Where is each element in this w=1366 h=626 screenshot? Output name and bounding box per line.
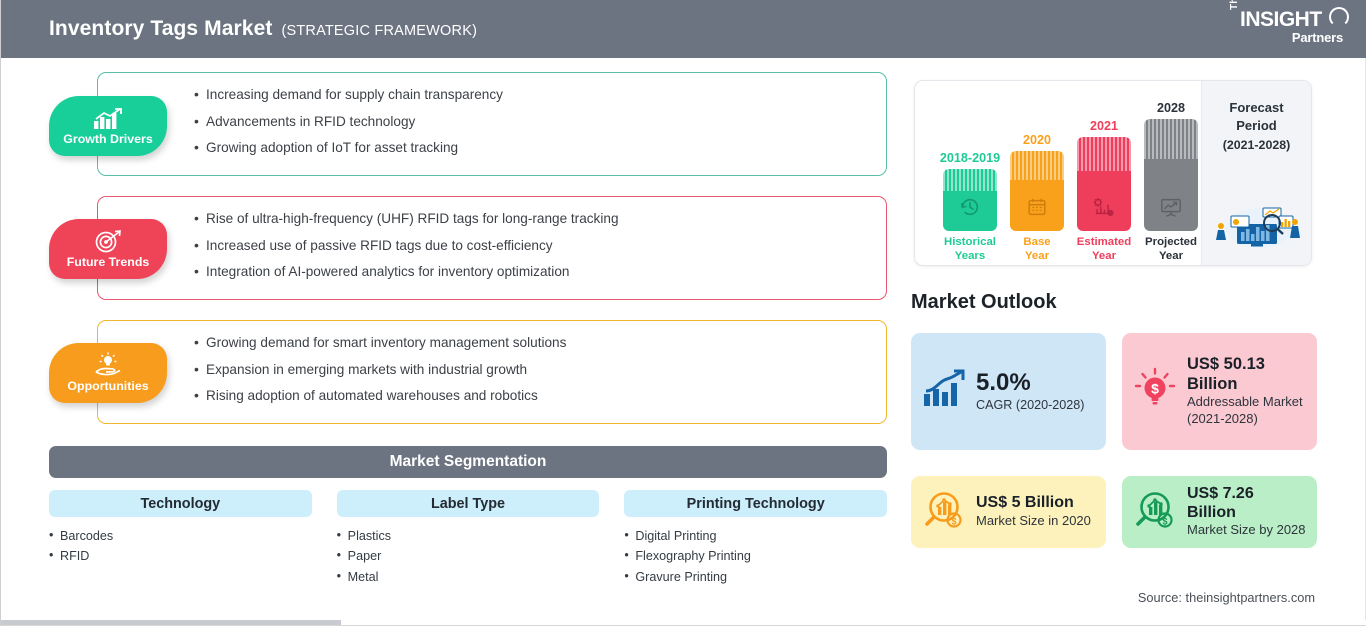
lightbulb-hand-icon — [92, 353, 124, 377]
market-outlook-title: Market Outlook — [911, 291, 1057, 314]
lightbulb-dollar-icon: $ — [1132, 366, 1178, 417]
card-market-size-2028: $ US$ 7.26 Billion Market Size by 2028 — [1122, 476, 1317, 548]
card-label: Market Size in 2020 — [976, 513, 1091, 530]
card-value: 5.0% — [976, 369, 1085, 397]
bullet-item: Increased use of passive RFID tags due t… — [194, 238, 872, 254]
list-item: Metal — [337, 567, 600, 587]
card-value: US$ 50.13 Billion — [1187, 355, 1305, 394]
magnifier-chart-dollar-icon: $ — [921, 487, 967, 538]
opportunities-badge[interactable]: Opportunities — [49, 343, 167, 403]
card-text: US$ 7.26 Billion Market Size by 2028 — [1187, 485, 1307, 540]
bar-solid — [1010, 180, 1064, 231]
card-text: 5.0% CAGR (2020-2028) — [976, 369, 1085, 414]
badge-label: Future Trends — [67, 255, 150, 269]
forecast-period-label: Forecast Period (2021-2028) — [1201, 81, 1311, 265]
bullet-item: Advancements in RFID technology — [194, 114, 872, 130]
bullet-item: Expansion in emerging markets with indus… — [194, 362, 872, 378]
data-analysis-illustration — [1207, 192, 1307, 257]
list-item: Paper — [337, 546, 600, 566]
bar-stripe-top — [1077, 137, 1131, 171]
bar-caption: ProjectedYear — [1145, 236, 1197, 263]
scrollbar-thumb[interactable] — [1, 620, 341, 625]
page-subtitle: (STRATEGIC FRAMEWORK) — [281, 23, 477, 39]
bar-body — [1077, 137, 1131, 231]
bullet-item: Increasing demand for supply chain trans… — [194, 87, 872, 103]
infographic-root: Inventory Tags Market(STRATEGIC FRAMEWOR… — [0, 0, 1366, 626]
forecast-range: (2021-2028) — [1223, 138, 1291, 152]
insight-partners-logo: The INSIGHT Partners — [1229, 6, 1349, 52]
bar-body — [1010, 151, 1064, 231]
horizontal-scrollbar[interactable] — [1, 620, 1366, 625]
opportunities-box: Growing demand for smart inventory manag… — [97, 320, 887, 424]
calendar-icon — [1026, 196, 1048, 223]
growth-bar-arrow-icon — [921, 369, 967, 414]
forecast-period-panel: 2018-2019 HistoricalYears 2020 — [914, 80, 1312, 266]
bar-stripe-top — [943, 169, 997, 191]
column-header: Label Type — [337, 490, 600, 517]
page-title: Inventory Tags Market(STRATEGIC FRAMEWOR… — [49, 17, 477, 41]
source-text: Source: theinsightpartners.com — [1138, 590, 1315, 605]
list-item: RFID — [49, 546, 312, 566]
future-trends-badge[interactable]: Future Trends — [49, 219, 167, 279]
market-segmentation-columns: Technology Barcodes RFID Label Type Plas… — [49, 490, 887, 590]
opportunities-bullets: Growing demand for smart inventory manag… — [194, 335, 872, 404]
svg-text:$: $ — [951, 516, 956, 526]
card-market-size-2020: $ US$ 5 Billion Market Size in 2020 — [911, 476, 1106, 548]
future-trends-box: Rise of ultra-high-frequency (UHF) RFID … — [97, 196, 887, 300]
svg-text:$: $ — [1162, 516, 1167, 526]
growth-drivers-bullets: Increasing demand for supply chain trans… — [194, 87, 872, 156]
forecast-line1: Forecast — [1229, 100, 1283, 115]
growth-drivers-badge[interactable]: Growth Drivers — [49, 96, 167, 156]
list-item: Digital Printing — [624, 526, 887, 546]
bar-body — [1144, 119, 1198, 231]
bar-caption: HistoricalYears — [944, 236, 996, 263]
segmentation-column-technology: Technology Barcodes RFID — [49, 490, 312, 590]
card-value: US$ 7.26 Billion — [1187, 485, 1307, 523]
segmentation-column-printing-technology: Printing Technology Digital Printing Fle… — [624, 490, 887, 590]
bar-year-label: 2028 — [1157, 101, 1185, 115]
bar-solid — [1144, 159, 1198, 231]
list-item: Barcodes — [49, 526, 312, 546]
logo-the: The — [1229, 0, 1240, 10]
target-dart-icon — [93, 229, 123, 253]
bar-stripe-top — [1144, 119, 1198, 159]
analytics-gear-icon — [1092, 196, 1116, 223]
badge-label: Growth Drivers — [63, 132, 153, 146]
magnifier-chart-dollar-icon: $ — [1132, 487, 1178, 538]
segmentation-column-label-type: Label Type Plastics Paper Metal — [337, 490, 600, 590]
list-item: Plastics — [337, 526, 600, 546]
presentation-screen-icon — [1159, 196, 1183, 223]
logo-insight: INSIGHT — [1240, 8, 1322, 32]
svg-text:$: $ — [1151, 381, 1159, 397]
history-clock-icon — [959, 196, 981, 223]
bar-year-label: 2018-2019 — [940, 151, 1000, 165]
card-cagr: 5.0% CAGR (2020-2028) — [911, 333, 1106, 450]
column-list: Digital Printing Flexography Printing Gr… — [624, 526, 887, 587]
column-header: Technology — [49, 490, 312, 517]
column-header: Printing Technology — [624, 490, 887, 517]
forecast-title: Forecast Period — [1229, 99, 1283, 134]
bullet-item: Rising adoption of automated warehouses … — [194, 388, 872, 404]
market-segmentation-title: Market Segmentation — [390, 453, 547, 471]
bar-year-label: 2021 — [1090, 119, 1118, 133]
list-item: Flexography Printing — [624, 546, 887, 566]
page-title-text: Inventory Tags Market — [49, 17, 272, 40]
bullet-item: Growing demand for smart inventory manag… — [194, 335, 872, 351]
forecast-line2: Period — [1236, 118, 1276, 133]
card-label: Market Size by 2028 — [1187, 522, 1307, 539]
bar-chart-arrow-icon — [92, 106, 124, 130]
bar-solid — [1077, 171, 1131, 231]
list-item: Gravure Printing — [624, 567, 887, 587]
market-segmentation-header: Market Segmentation — [49, 446, 887, 478]
bar-solid — [943, 191, 997, 231]
future-trends-bullets: Rise of ultra-high-frequency (UHF) RFID … — [194, 211, 872, 280]
bar-body — [943, 169, 997, 231]
bullet-item: Rise of ultra-high-frequency (UHF) RFID … — [194, 211, 872, 227]
logo-arc-icon — [1329, 7, 1349, 27]
badge-label: Opportunities — [67, 379, 148, 393]
card-label: CAGR (2020-2028) — [976, 397, 1085, 413]
bar-year-label: 2020 — [1023, 133, 1051, 147]
card-value: US$ 5 Billion — [976, 494, 1091, 513]
logo-partners: Partners — [1292, 30, 1343, 45]
card-text: US$ 5 Billion Market Size in 2020 — [976, 494, 1091, 530]
column-list: Plastics Paper Metal — [337, 526, 600, 587]
card-label: Addressable Market (2021-2028) — [1187, 394, 1305, 428]
bullet-item: Growing adoption of IoT for asset tracki… — [194, 140, 872, 156]
growth-drivers-box: Increasing demand for supply chain trans… — [97, 72, 887, 176]
bar-caption: EstimatedYear — [1077, 236, 1131, 263]
column-list: Barcodes RFID — [49, 526, 312, 567]
header-bar: Inventory Tags Market(STRATEGIC FRAMEWOR… — [1, 0, 1366, 58]
card-addressable-market: $ US$ 50.13 Billion Addressable Market (… — [1122, 333, 1317, 450]
bar-stripe-top — [1010, 151, 1064, 180]
bullet-item: Integration of AI-powered analytics for … — [194, 264, 872, 280]
forecast-bars: 2018-2019 HistoricalYears 2020 — [925, 81, 1205, 265]
bar-caption: BaseYear — [1023, 236, 1050, 263]
card-text: US$ 50.13 Billion Addressable Market (20… — [1187, 355, 1305, 428]
